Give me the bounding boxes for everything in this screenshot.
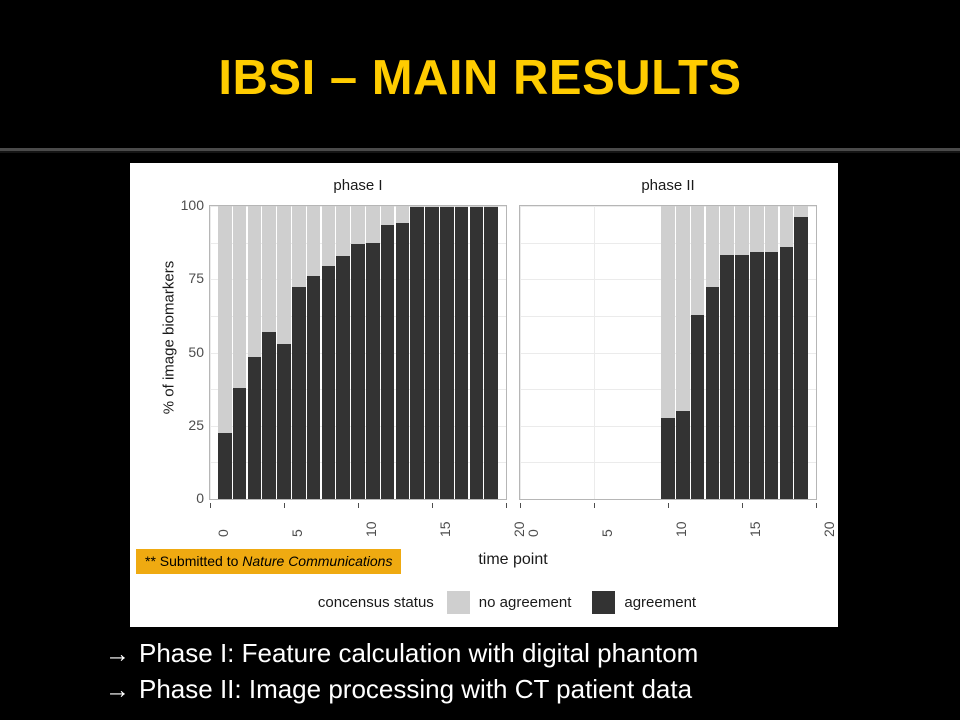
bar-segment-agreement xyxy=(765,252,779,499)
x-tick-label: 15 xyxy=(747,521,763,537)
gridline-vertical xyxy=(594,206,595,499)
x-tick-mark xyxy=(668,503,669,508)
bar-stack xyxy=(233,206,247,499)
slide-header: IBSI – MAIN RESULTS xyxy=(0,0,960,148)
bar-segment-agreement xyxy=(691,315,705,499)
arrow-icon: → xyxy=(105,676,130,704)
bar-stack xyxy=(425,206,439,499)
bar-segment-agreement xyxy=(470,207,484,499)
page-title: IBSI – MAIN RESULTS xyxy=(0,48,960,108)
gridline-horizontal xyxy=(520,499,816,500)
bar-segment-agreement xyxy=(262,332,276,499)
x-tick-mark xyxy=(210,503,211,508)
x-tick-label: 0 xyxy=(525,529,541,537)
gridline-vertical xyxy=(210,206,211,499)
bar-segment-agreement xyxy=(322,266,336,499)
bar-stack xyxy=(277,206,291,499)
x-tick-label: 5 xyxy=(599,529,615,537)
bar-segment-agreement xyxy=(676,411,690,499)
legend-label-agreement: agreement xyxy=(624,594,696,611)
x-tick-mark xyxy=(432,503,433,508)
y-tick-label: 25 xyxy=(160,417,204,433)
bar-segment-agreement xyxy=(794,217,808,499)
list-item: →Phase II: Image processing with CT pati… xyxy=(105,672,945,708)
legend-label-no-agreement: no agreement xyxy=(479,594,572,611)
legend-swatch-no-agreement xyxy=(447,591,470,614)
x-tick-label: 15 xyxy=(437,521,453,537)
gridline-vertical xyxy=(506,206,507,499)
bar-segment-agreement xyxy=(336,256,350,499)
x-tick-label: 10 xyxy=(363,521,379,537)
bar-segment-agreement xyxy=(440,207,454,499)
x-tick-label: 0 xyxy=(215,529,231,537)
bar-stack xyxy=(676,206,690,499)
bar-segment-agreement xyxy=(735,255,749,499)
submission-badge: ** Submitted to Nature Communications xyxy=(136,549,401,574)
bar-stack xyxy=(706,206,720,499)
bullet-text: Phase I: Feature calculation with digita… xyxy=(139,638,698,668)
list-item: →Phase I: Feature calculation with digit… xyxy=(105,636,945,672)
x-tick-label: 20 xyxy=(821,521,837,537)
bar-segment-agreement xyxy=(307,276,321,499)
bar-segment-agreement xyxy=(233,388,247,499)
bar-stack xyxy=(440,206,454,499)
header-divider-shadow xyxy=(0,151,960,153)
bar-stack xyxy=(735,206,749,499)
bar-segment-agreement xyxy=(248,357,262,499)
x-tick-mark xyxy=(284,503,285,508)
bar-stack xyxy=(366,206,380,499)
badge-journal: Nature Communications xyxy=(242,553,392,569)
bar-stack xyxy=(750,206,764,499)
bar-stack xyxy=(794,206,808,499)
x-tick-mark xyxy=(742,503,743,508)
gridline-vertical xyxy=(816,206,817,499)
x-tick-label: 5 xyxy=(289,529,305,537)
bar-segment-agreement xyxy=(750,252,764,499)
facet-phase-1 xyxy=(209,205,507,500)
bar-stack xyxy=(381,206,395,499)
bar-segment-agreement xyxy=(410,207,424,499)
bullet-list: →Phase I: Feature calculation with digit… xyxy=(105,636,945,708)
bar-stack xyxy=(262,206,276,499)
bar-stack xyxy=(691,206,705,499)
bar-stack xyxy=(336,206,350,499)
x-tick-label: 10 xyxy=(673,521,689,537)
badge-prefix: ** Submitted to xyxy=(145,553,242,569)
plot-area-phase-2 xyxy=(520,206,816,499)
bullet-text: Phase II: Image processing with CT patie… xyxy=(139,674,692,704)
chart-legend: concensus status no agreement agreement xyxy=(209,591,817,614)
y-tick-label: 50 xyxy=(160,344,204,360)
bar-segment-agreement xyxy=(484,207,498,499)
bar-stack xyxy=(248,206,262,499)
bar-stack xyxy=(470,206,484,499)
bar-stack xyxy=(720,206,734,499)
bar-segment-agreement xyxy=(351,244,365,499)
bar-segment-agreement xyxy=(381,225,395,499)
bar-segment-agreement xyxy=(396,223,410,499)
bar-segment-agreement xyxy=(706,287,720,499)
y-tick-label: 0 xyxy=(160,490,204,506)
bar-stack xyxy=(396,206,410,499)
bar-segment-agreement xyxy=(277,344,291,499)
bar-segment-agreement xyxy=(661,418,675,499)
arrow-icon: → xyxy=(105,640,130,668)
x-tick-mark xyxy=(358,503,359,508)
bar-stack xyxy=(484,206,498,499)
bar-stack xyxy=(455,206,469,499)
bar-segment-agreement xyxy=(366,243,380,499)
bar-segment-agreement xyxy=(218,433,232,499)
facet-title-phase-1: phase I xyxy=(209,177,507,194)
facet-phase-2 xyxy=(519,205,817,500)
bar-stack xyxy=(765,206,779,499)
y-tick-label: 100 xyxy=(160,197,204,213)
gridline-horizontal xyxy=(210,499,506,500)
gridline-vertical xyxy=(520,206,521,499)
plot-area-phase-1 xyxy=(210,206,506,499)
bar-stack xyxy=(322,206,336,499)
facet-title-phase-2: phase II xyxy=(519,177,817,194)
legend-swatch-agreement xyxy=(592,591,615,614)
x-tick-mark xyxy=(816,503,817,508)
bar-stack xyxy=(410,206,424,499)
bar-stack xyxy=(661,206,675,499)
x-tick-mark xyxy=(594,503,595,508)
bar-stack xyxy=(292,206,306,499)
bar-segment-agreement xyxy=(292,287,306,499)
bar-segment-agreement xyxy=(425,207,439,499)
bar-segment-agreement xyxy=(720,255,734,499)
bar-stack xyxy=(307,206,321,499)
legend-title: concensus status xyxy=(318,594,434,611)
x-tick-mark xyxy=(520,503,521,508)
bar-stack xyxy=(218,206,232,499)
bar-stack xyxy=(780,206,794,499)
x-tick-mark xyxy=(506,503,507,508)
bar-stack xyxy=(351,206,365,499)
y-tick-label: 75 xyxy=(160,270,204,286)
bar-segment-agreement xyxy=(780,247,794,499)
bar-segment-agreement xyxy=(455,207,469,499)
